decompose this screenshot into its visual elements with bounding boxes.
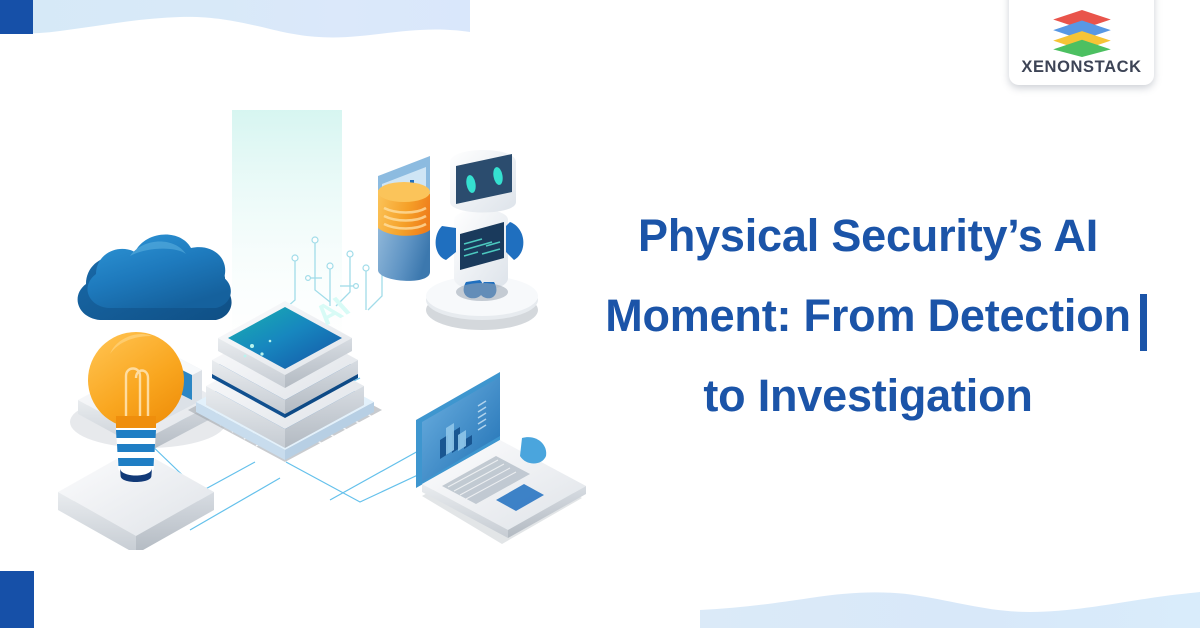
analytics-laptop [416, 372, 586, 544]
bottom-wave-decoration [700, 582, 1200, 628]
top-wave-decoration [0, 0, 470, 48]
top-left-accent-square [0, 0, 33, 34]
database-cylinder [378, 156, 430, 281]
bottom-left-accent-bar [0, 571, 34, 628]
ai-technology-illustration: AI [30, 110, 600, 550]
ai-robot [426, 150, 538, 330]
brand-wordmark: XENONSTACK [1021, 59, 1141, 76]
cloud-icon [78, 235, 232, 320]
stacked-layers-icon [1051, 9, 1113, 57]
brand-logo-card[interactable]: XENONSTACK [1009, 0, 1154, 85]
text-caret-accent [1140, 294, 1147, 351]
banner-canvas: AI [0, 0, 1200, 628]
page-title: Physical Security’s AI Moment: From Dete… [600, 196, 1136, 436]
